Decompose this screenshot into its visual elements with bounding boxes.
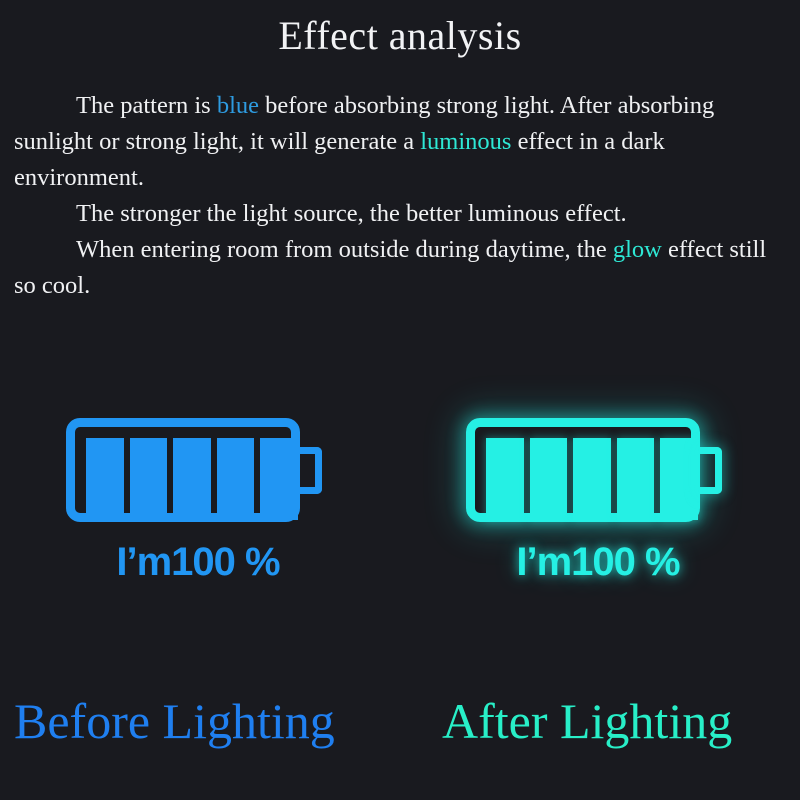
paragraph-2: The stronger the light source, the bette…: [14, 196, 786, 232]
paragraph-2-segment-1: The stronger the light source, the bette…: [76, 200, 627, 227]
caption-before-lighting: Before Lighting: [14, 694, 335, 749]
highlight-glow-word: glow: [613, 236, 662, 263]
battery-cell: [573, 438, 611, 520]
battery-body-outline: [466, 418, 700, 522]
battery-terminal-nub: [700, 447, 722, 494]
description-text-block: The pattern is blue before absorbing str…: [14, 88, 786, 304]
battery-charge-label: I’m100 %: [448, 542, 748, 582]
battery-cell: [217, 438, 255, 520]
caption-after-lighting: After Lighting: [442, 694, 732, 749]
battery-cell: [260, 438, 298, 520]
battery-after-block: I’m100 %: [448, 404, 748, 614]
paragraph-1-segment-1: The pattern is: [76, 92, 217, 119]
page-title: Effect analysis: [0, 14, 800, 58]
battery-cell: [617, 438, 655, 520]
battery-cell: [530, 438, 568, 520]
battery-cell: [660, 438, 698, 520]
paragraph-3-segment-1: When entering room from outside during d…: [76, 236, 613, 263]
battery-terminal-nub: [300, 447, 322, 494]
battery-cell: [486, 438, 524, 520]
caption-row: Before Lighting After Lighting: [0, 694, 800, 774]
battery-cells: [486, 438, 698, 520]
battery-cell: [173, 438, 211, 520]
battery-charge-label: I’m100 %: [48, 542, 348, 582]
battery-cell: [86, 438, 124, 520]
battery-before-block: I’m100 %: [48, 404, 348, 614]
battery-body-outline: [66, 418, 300, 522]
battery-full-icon: [66, 418, 324, 526]
effect-analysis-page: Effect analysis The pattern is blue befo…: [0, 0, 800, 800]
paragraph-3: When entering room from outside during d…: [14, 232, 786, 304]
highlight-blue-word: blue: [217, 92, 259, 119]
battery-cells: [86, 438, 298, 520]
paragraph-1: The pattern is blue before absorbing str…: [14, 88, 786, 196]
highlight-luminous-word: luminous: [420, 128, 511, 155]
battery-cell: [130, 438, 168, 520]
battery-comparison-row: I’m100 % I’m100 %: [0, 404, 800, 614]
battery-full-glowing-icon: [466, 418, 724, 526]
